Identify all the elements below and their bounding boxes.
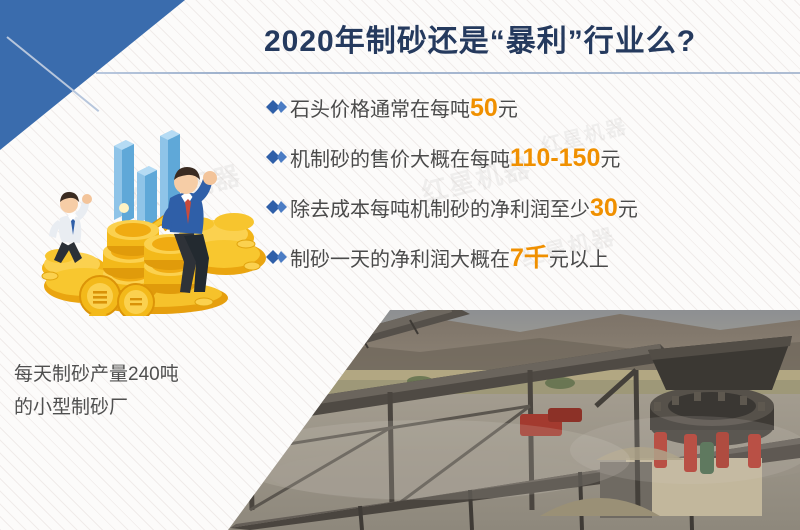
caption-line-1: 每天制砂产量240吨 (14, 358, 238, 391)
double-diamond-icon (266, 150, 290, 169)
bullet-text: 机制砂的售价大概在每吨110-150元 (290, 146, 620, 171)
bullet-prefix: 石头价格通常在每吨 (290, 99, 470, 121)
bullet-suffix: 元以上 (549, 249, 609, 271)
bullet-suffix: 元 (498, 99, 518, 121)
bullet-list: 石头价格通常在每吨50元 机制砂的售价大概在每吨110-150元 除去成本每吨机… (266, 96, 786, 296)
bullet-text: 除去成本每吨机制砂的净利润至少30元 (290, 196, 638, 221)
bullet-highlight: 30 (590, 194, 618, 222)
infographic-poster: 红星机器 红星机器 红星机器 红星机器 2020年制砂还是“暴利”行业么? (0, 0, 800, 530)
bullet-highlight: 50 (470, 94, 498, 122)
page-title: 2020年制砂还是“暴利”行业么? (190, 16, 770, 60)
bullet-highlight: 7千 (510, 244, 549, 272)
list-item: 机制砂的售价大概在每吨110-150元 (266, 146, 786, 196)
header-divider (96, 72, 800, 74)
businessmen-on-gold-coins-illustration (38, 126, 268, 316)
double-diamond-icon (266, 250, 290, 269)
bullet-prefix: 机制砂的售价大概在每吨 (290, 149, 510, 171)
double-diamond-icon (266, 200, 290, 219)
caption-line-2: 的小型制砂厂 (14, 391, 238, 424)
photo-caption: 每天制砂产量240吨 的小型制砂厂 (14, 358, 238, 425)
bullet-prefix: 除去成本每吨机制砂的净利润至少 (290, 199, 590, 221)
list-item: 除去成本每吨机制砂的净利润至少30元 (266, 196, 786, 246)
bullet-text: 制砂一天的净利润大概在7千元以上 (290, 246, 609, 271)
bullet-text: 石头价格通常在每吨50元 (290, 96, 518, 121)
bullet-suffix: 元 (618, 199, 638, 221)
list-item: 石头价格通常在每吨50元 (266, 96, 786, 146)
bullet-suffix: 元 (600, 149, 620, 171)
bullet-prefix: 制砂一天的净利润大概在 (290, 249, 510, 271)
bullet-highlight: 110-150 (510, 144, 600, 172)
list-item: 制砂一天的净利润大概在7千元以上 (266, 246, 786, 296)
double-diamond-icon (266, 100, 290, 119)
